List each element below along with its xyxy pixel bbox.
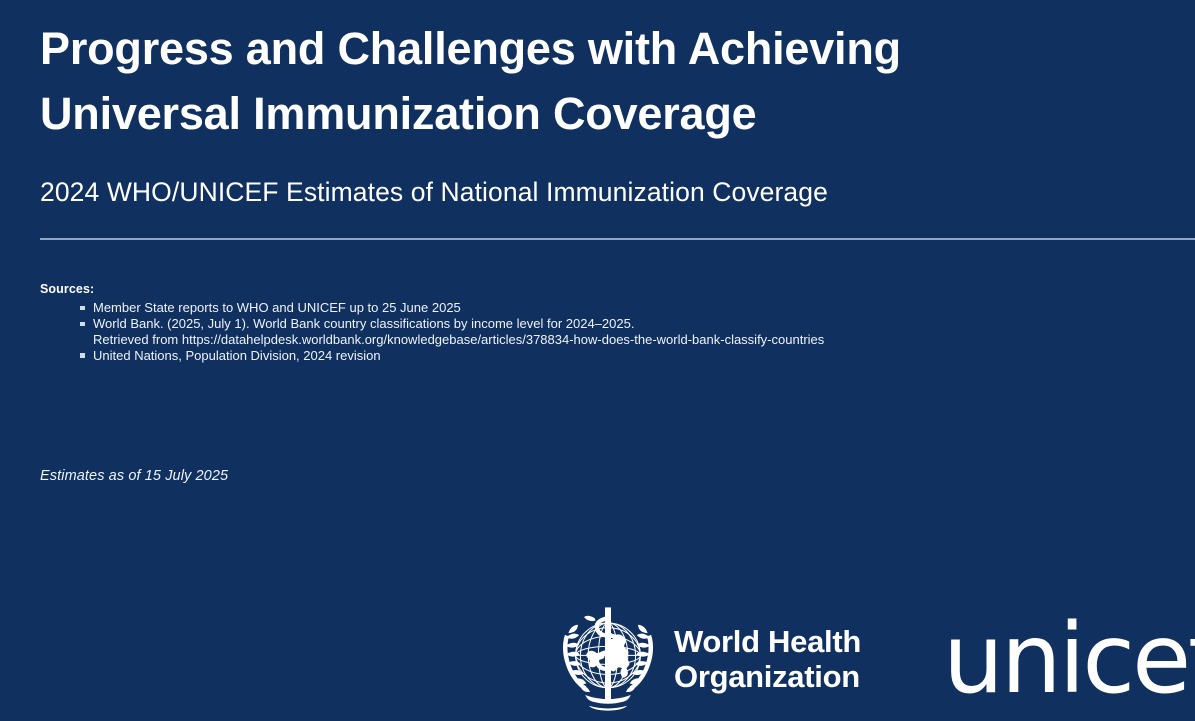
source-text-continuation: Retrieved from https://datahelpdesk.worl…	[93, 332, 1040, 348]
page-subtitle: 2024 WHO/UNICEF Estimates of National Im…	[40, 174, 828, 210]
list-item: World Bank. (2025, July 1). World Bank c…	[40, 316, 1040, 347]
who-wordmark-line2: Organization	[674, 659, 861, 694]
list-item: United Nations, Population Division, 202…	[40, 348, 1040, 364]
who-wordmark: World Health Organization	[674, 624, 861, 694]
square-bullet-icon	[80, 322, 85, 327]
sources-list: Member State reports to WHO and UNICEF u…	[40, 300, 1040, 363]
estimates-date-note: Estimates as of 15 July 2025	[40, 468, 228, 484]
source-text: United Nations, Population Division, 202…	[93, 348, 381, 363]
sources-label: Sources:	[40, 281, 1040, 298]
who-emblem-icon	[548, 600, 668, 718]
sources-block: Sources: Member State reports to WHO and…	[40, 281, 1040, 364]
source-text: World Bank. (2025, July 1). World Bank c…	[93, 316, 634, 331]
unicef-logo: unicef	[943, 596, 1195, 721]
list-item: Member State reports to WHO and UNICEF u…	[40, 300, 1040, 316]
page-title: Progress and Challenges with Achieving U…	[40, 16, 1040, 146]
source-text: Member State reports to WHO and UNICEF u…	[93, 300, 461, 315]
who-logo: World Health Organization	[548, 598, 861, 720]
square-bullet-icon	[80, 353, 85, 358]
horizontal-divider	[40, 238, 1195, 240]
title-slide: Progress and Challenges with Achieving U…	[0, 0, 1195, 721]
unicef-wordmark: unicef	[943, 609, 1195, 709]
who-wordmark-line1: World Health	[674, 624, 861, 659]
square-bullet-icon	[80, 306, 85, 311]
